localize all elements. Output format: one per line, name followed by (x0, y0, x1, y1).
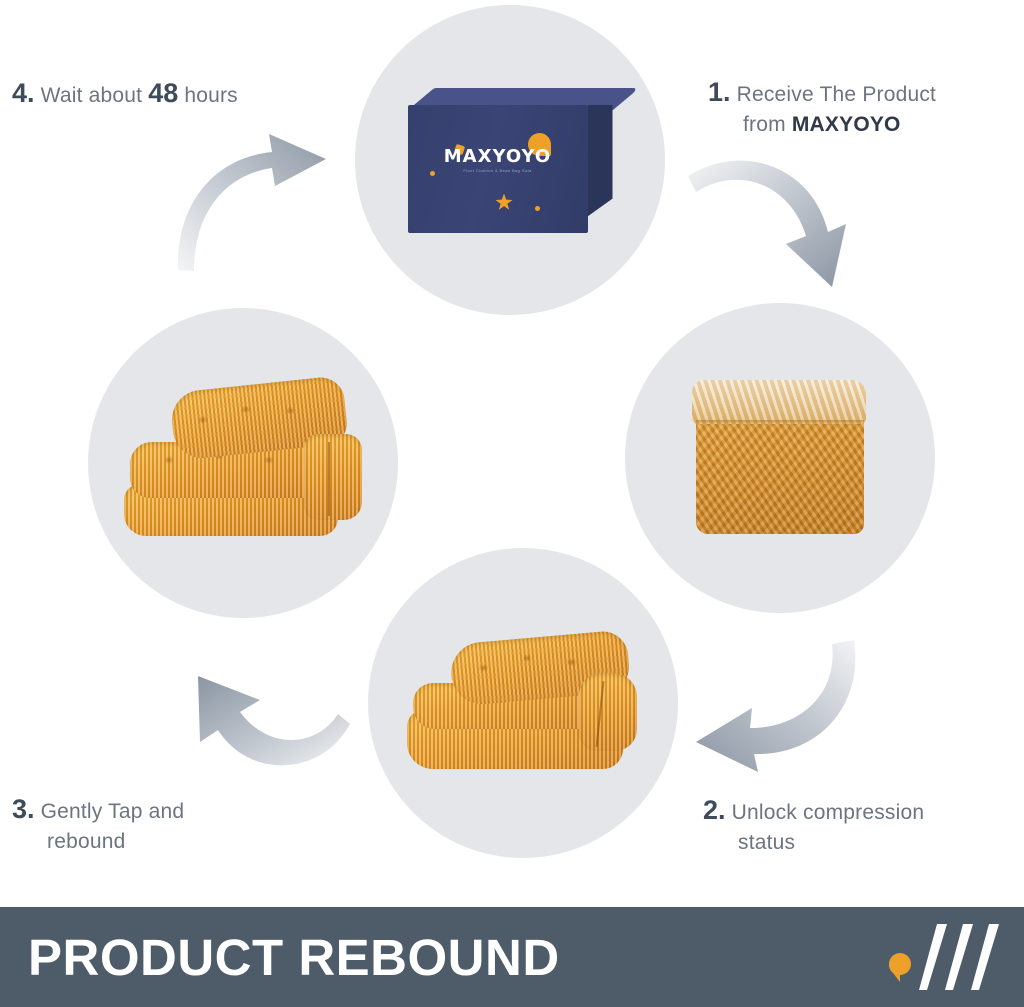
step-1-line2-prefix: from (743, 113, 792, 136)
step-1-line2: from MAXYOYO (708, 111, 936, 139)
step-2-number: 2. (703, 795, 726, 825)
step-2-label: 2. Unlock compression status (703, 793, 924, 856)
box-star-sticker-icon (496, 194, 513, 211)
step-3-line2: rebound (12, 828, 184, 856)
step-3-number: 3. (12, 794, 35, 824)
folded-sofa-mattress-image (118, 376, 368, 551)
sofa-folded-side (304, 434, 362, 520)
step-2-line1: Unlock compression (732, 801, 925, 824)
step-4-line1-prefix: Wait about (41, 84, 149, 107)
partially-expanded-mattress-image (403, 621, 643, 786)
step-3-label: 3. Gently Tap and rebound (12, 792, 184, 855)
mattress-side-roll (579, 673, 637, 751)
step-4-number: 4. (12, 78, 35, 108)
step-1-image-circle: MAXYOYO Floor Cushion & Bean Bag Sofa (355, 5, 665, 315)
shipping-box-image: MAXYOYO Floor Cushion & Bean Bag Sofa (408, 88, 613, 233)
step-4-line1-suffix: hours (178, 84, 238, 107)
step-1-line1: Receive The Product (737, 83, 937, 106)
step-3-line1: Gently Tap and (41, 800, 185, 823)
arrow-step4-to-step1 (168, 128, 333, 273)
logo-stroke-2 (945, 924, 973, 990)
arrow-step2-to-step3 (668, 638, 863, 793)
arrow-step1-to-step2 (686, 140, 866, 305)
step-2-line2: status (703, 829, 924, 857)
step-3-image-circle (368, 548, 678, 858)
block-edge-shadow (696, 420, 864, 425)
box-brand-text: MAXYOYO (408, 146, 588, 167)
logo-stroke-1 (919, 924, 947, 990)
step-1-brand: MAXYOYO (792, 113, 901, 136)
step-2-image-circle (625, 303, 935, 613)
maxyoyo-logo (875, 920, 1000, 994)
bottom-banner: PRODUCT REBOUND (0, 907, 1024, 1007)
box-tagline-text: Floor Cushion & Bean Bag Sofa (408, 168, 588, 173)
banner-title: PRODUCT REBOUND (28, 928, 560, 987)
step-1-number: 1. (708, 77, 731, 107)
step-1-label: 1. Receive The Product from MAXYOYO (708, 75, 936, 138)
step-4-image-circle (88, 308, 398, 618)
block-top-surface (692, 380, 866, 424)
step-4-hours-value: 48 (148, 78, 178, 108)
logo-stroke-3 (971, 924, 999, 990)
arrow-step3-to-step4 (172, 628, 357, 793)
box-small-dot-sticker-icon (535, 206, 540, 211)
step-4-label: 4. Wait about 48 hours (12, 76, 238, 112)
sofa-seam (328, 442, 330, 516)
logo-orange-dot-icon (889, 953, 911, 982)
box-side-face (588, 105, 613, 217)
compressed-block-image (688, 376, 873, 541)
infographic-canvas: MAXYOYO Floor Cushion & Bean Bag Sofa (0, 0, 1024, 1007)
